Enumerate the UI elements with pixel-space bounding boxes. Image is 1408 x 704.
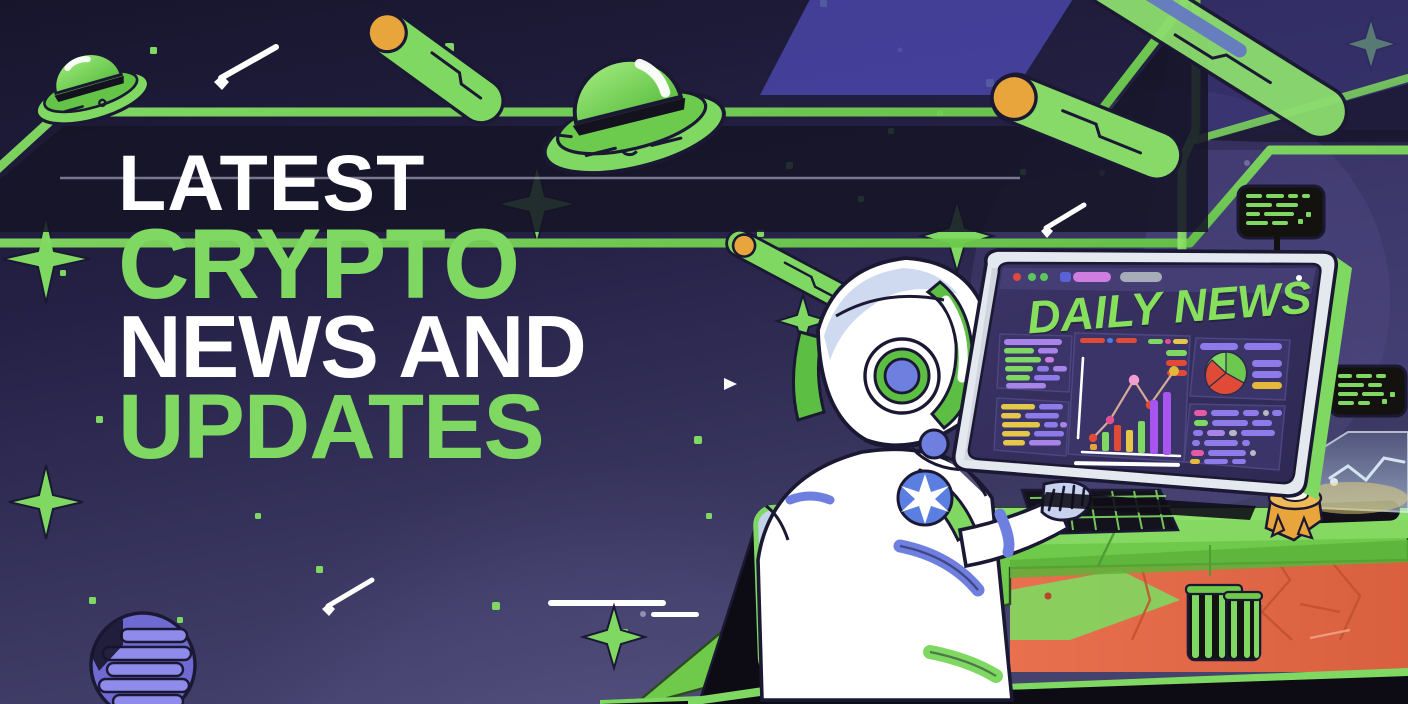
illustration-banner: LATEST CRYPTO NEWS AND UPDATES [0,0,1408,704]
foreground-overlays [0,0,1408,704]
